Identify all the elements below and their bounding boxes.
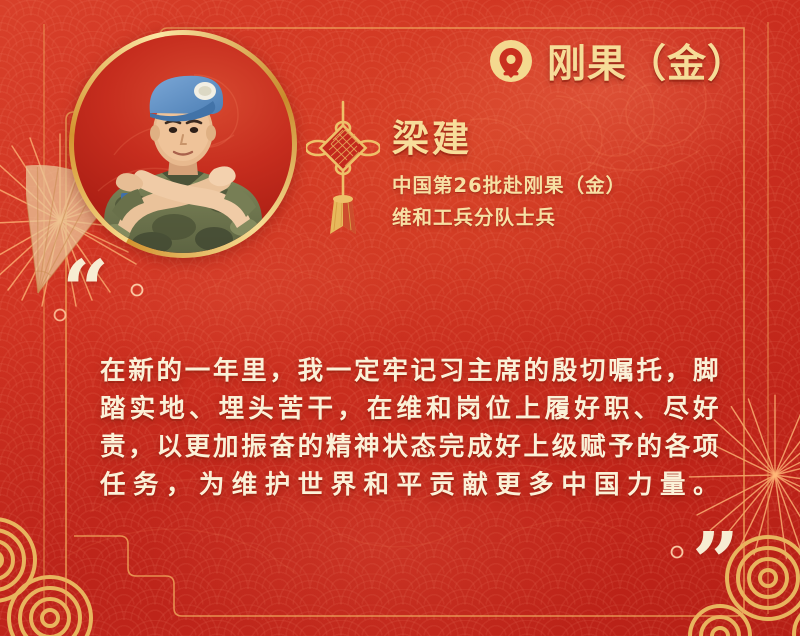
poster-canvas: 刚果（金） 梁建 中国	[0, 0, 800, 636]
chinese-knot-icon	[306, 100, 380, 240]
person-name: 梁建	[392, 108, 472, 162]
person-role-line-2: 维和工兵分队士兵	[392, 202, 752, 234]
portrait-image	[74, 35, 292, 253]
quote-open-mark: “	[62, 250, 109, 332]
spiral-ornament-bottom-left	[0, 500, 169, 636]
location-header: 刚果（金）	[489, 33, 747, 89]
soldier-figure	[74, 35, 292, 253]
person-role-line-1: 中国第26批赴刚果（金）	[392, 170, 752, 202]
location-label: 刚果（金）	[547, 33, 747, 89]
quote-text: 在新的一年里，我一定牢记习主席的殷切嘱托，脚踏实地、埋头苦干，在维和岗位上履好职…	[100, 352, 720, 504]
deco-line-bottom-right	[556, 540, 686, 564]
portrait-photo	[69, 30, 297, 258]
person-role: 中国第26批赴刚果（金） 维和工兵分队士兵	[392, 170, 752, 234]
location-pin-icon	[489, 39, 533, 83]
deco-line-top	[128, 278, 718, 302]
quote-close-mark: ”	[692, 522, 739, 604]
